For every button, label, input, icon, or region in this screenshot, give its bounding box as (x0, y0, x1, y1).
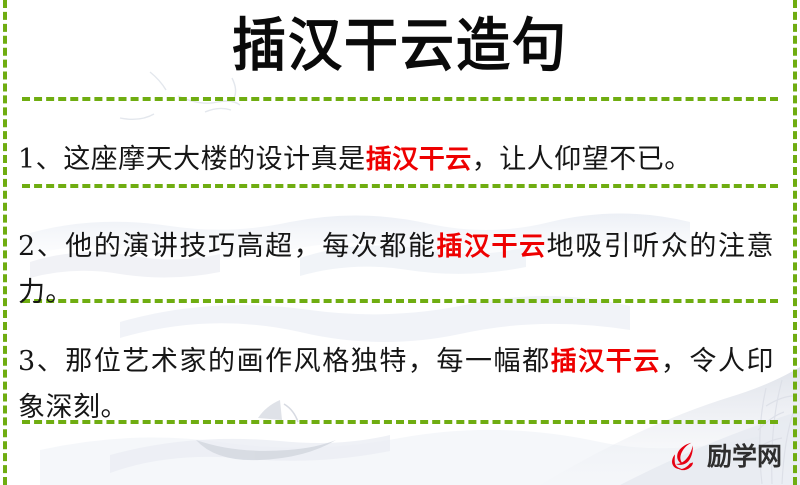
idiom-highlight-3: 插汉干云 (551, 347, 661, 377)
sentence-item-2: 2、他的演讲技巧高超，每次都能插汉干云地吸引听众的注意力。 (18, 224, 774, 315)
page-title: 插汉干云造句 (0, 14, 800, 76)
idiom-highlight-1: 插汉干云 (366, 145, 472, 175)
idiom-highlight-2: 插汉干云 (436, 232, 546, 262)
divider-after-sentence-1 (22, 184, 778, 188)
sentence-text-before-1: 这座摩天大楼的设计真是 (63, 144, 366, 175)
sentence-index-2: 2、 (18, 231, 65, 262)
site-logo[interactable]: 励学网 (668, 439, 782, 473)
sentence-text-after-1: ，让人仰望不已。 (472, 144, 692, 175)
sentence-item-3: 3、那位艺术家的画作风格独特，每一幅都插汉干云，令人印象深刻。 (18, 339, 774, 430)
site-logo-text: 励学网 (707, 443, 782, 470)
sentence-index-1: 1、 (18, 144, 63, 175)
sentence-text-before-2: 他的演讲技巧高超，每次都能 (65, 231, 436, 262)
red-swoosh-icon (668, 439, 702, 473)
divider-below-title (22, 97, 778, 101)
page-title-text: 插汉干云造句 (232, 12, 568, 78)
sentence-item-1: 1、这座摩天大楼的设计真是插汉干云，让人仰望不已。 (18, 137, 774, 183)
sentence-text-before-3: 那位艺术家的画作风格独特，每一幅都 (65, 346, 550, 377)
worksheet-page: 插汉干云造句 1、这座摩天大楼的设计真是插汉干云，让人仰望不已。 2、他的演讲技… (0, 0, 800, 485)
sentence-index-3: 3、 (18, 346, 65, 377)
